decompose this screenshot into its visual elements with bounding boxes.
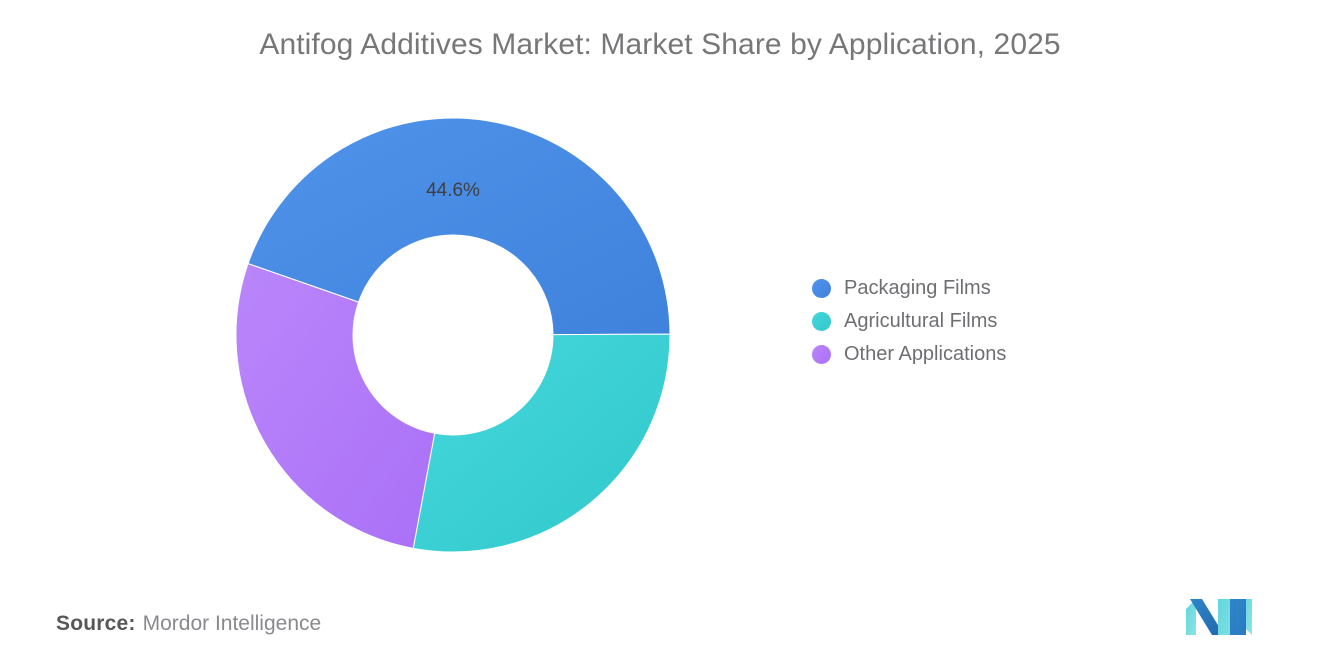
legend-swatch-icon: [812, 279, 831, 298]
legend-label: Agricultural Films: [844, 310, 997, 333]
donut-slice[interactable]: [413, 334, 670, 552]
legend-item-agricultural-films[interactable]: Agricultural Films: [812, 305, 1112, 338]
donut-chart: 44.6%: [236, 118, 670, 552]
legend-label: Packaging Films: [844, 277, 991, 300]
logo-svg: [1184, 597, 1254, 637]
donut-chart-svg: [236, 118, 670, 552]
donut-slices: [236, 118, 670, 552]
page-title: Antifog Additives Market: Market Share b…: [0, 28, 1320, 62]
legend-label: Other Applications: [844, 343, 1006, 366]
legend-item-other-applications[interactable]: Other Applications: [812, 338, 1112, 371]
source-label: Source:: [56, 612, 136, 635]
source-value: Mordor Intelligence: [143, 612, 322, 635]
legend-swatch-icon: [812, 345, 831, 364]
mordor-intelligence-logo-icon: [1184, 597, 1254, 637]
legend-swatch-icon: [812, 312, 831, 331]
donut-slice[interactable]: [236, 264, 435, 549]
legend-item-packaging-films[interactable]: Packaging Films: [812, 272, 1112, 305]
source-line: Source:Mordor Intelligence: [56, 612, 321, 636]
chart-legend: Packaging Films Agricultural Films Other…: [812, 272, 1112, 371]
